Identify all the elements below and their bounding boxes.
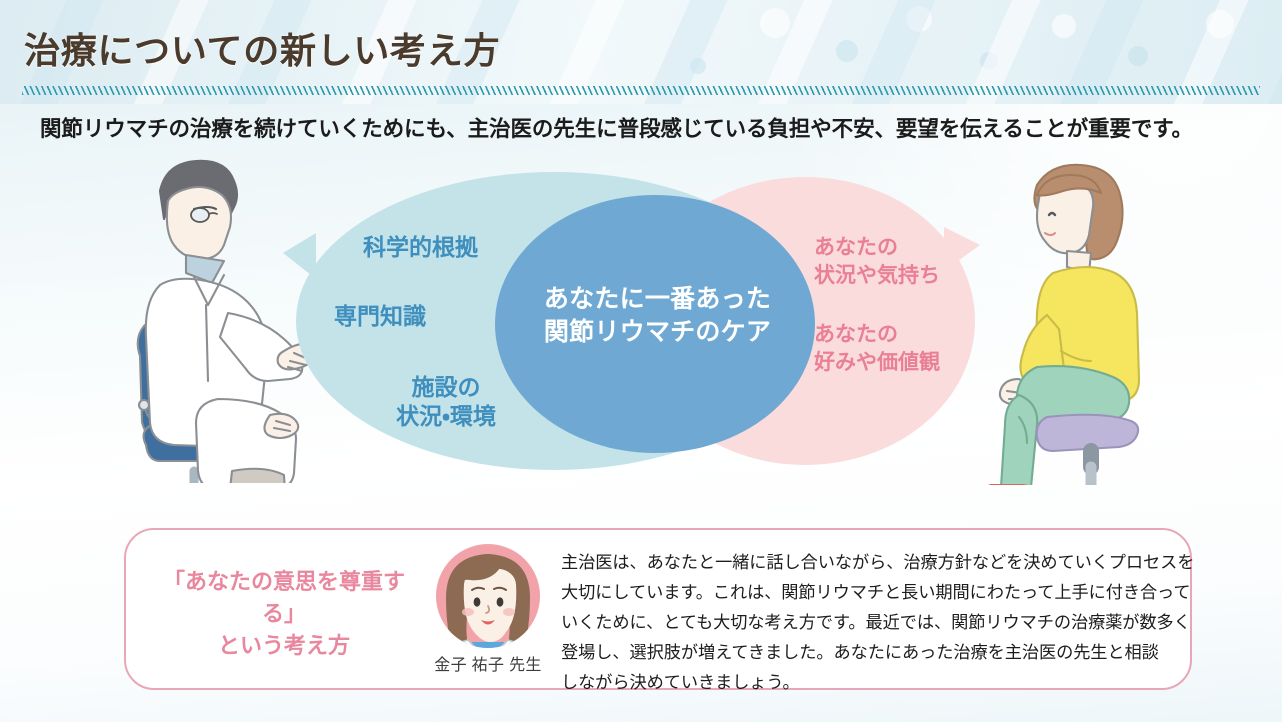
paragraph-line: いくために、とても大切な考え方です。最近では、関節リウマチの治療薬が数多く [561, 607, 1176, 637]
avatar-name: 金子 祐子 先生 [424, 651, 552, 675]
label-situation-line1: あなたの [814, 236, 898, 259]
hatch-divider [22, 86, 1260, 95]
decor-dot [980, 52, 998, 70]
label-your-situation-feelings: あなたの 状況や気持ち [814, 234, 940, 289]
lead-sentence: 関節リウマチの治療を続けていくためにも、主治医の先生に普段感じている負担や不安、… [40, 112, 1193, 143]
label-values-line1: あなたの [814, 323, 898, 346]
decor-dot [690, 58, 706, 74]
decor-dot [836, 40, 858, 62]
patient-illustration [975, 155, 1175, 490]
center-message-line1: あなたに一番あった [544, 285, 771, 313]
venn-diagram: 科学的根拠 専門知識 施設の 状況・環境 あなたの 状況や気持ち あなたの 好み… [0, 155, 1282, 500]
card-heading: 「あなたの意思を尊重する」 という考え方 [144, 566, 424, 662]
center-message-line2: 関節リウマチのケア [544, 318, 771, 346]
paragraph-line: 大切にしています。これは、関節リウマチと長い期間にわたって上手に付き合って [561, 577, 1176, 607]
label-your-preferences-values: あなたの 好みや価値観 [814, 321, 940, 376]
label-scientific-evidence: 科学的根拠 [363, 233, 478, 262]
decor-dot [1206, 10, 1234, 38]
center-message: あなたに一番あった 関節リウマチのケア [515, 283, 800, 349]
decor-dot [1128, 46, 1148, 66]
doctor-illustration [108, 153, 323, 488]
card-heading-line2: という考え方 [218, 633, 350, 658]
label-values-line2: 好みや価値観 [814, 351, 940, 374]
label-expert-knowledge: 専門知識 [334, 302, 426, 331]
page-title: 治療についての新しい考え方 [24, 22, 500, 74]
bubble-tail [283, 233, 316, 279]
decor-dot [906, 6, 932, 32]
decor-dot [760, 8, 790, 38]
paragraph-line: 登場し、選択肢が増えてきました。あなたにあった治療を主治医の先生と相談 [561, 637, 1176, 667]
label-facility-environment: 施設の 状況・環境 [381, 373, 511, 431]
decor-dot [1052, 14, 1076, 38]
infographic-page: 治療についての新しい考え方 関節リウマチの治療を続けていくためにも、主治医の先生… [0, 0, 1282, 722]
label-facility-line2: 状況・環境 [396, 403, 496, 429]
paragraph-line: 主治医は、あなたと一緒に話し合いながら、治療方針などを決めていくプロセスを [561, 547, 1176, 577]
card-paragraph: 主治医は、あなたと一緒に話し合いながら、治療方針などを決めていくプロセスを 大切… [561, 547, 1176, 697]
label-facility-line1: 施設の [412, 374, 481, 400]
bottom-info-card: 「あなたの意思を尊重する」 という考え方 [124, 528, 1192, 690]
avatar [424, 540, 552, 657]
card-heading-line1: 「あなたの意思を尊重する」 [163, 569, 405, 626]
paragraph-line: しながら決めていきましょう。 [561, 667, 1176, 697]
label-situation-line2: 状況や気持ち [814, 264, 940, 287]
